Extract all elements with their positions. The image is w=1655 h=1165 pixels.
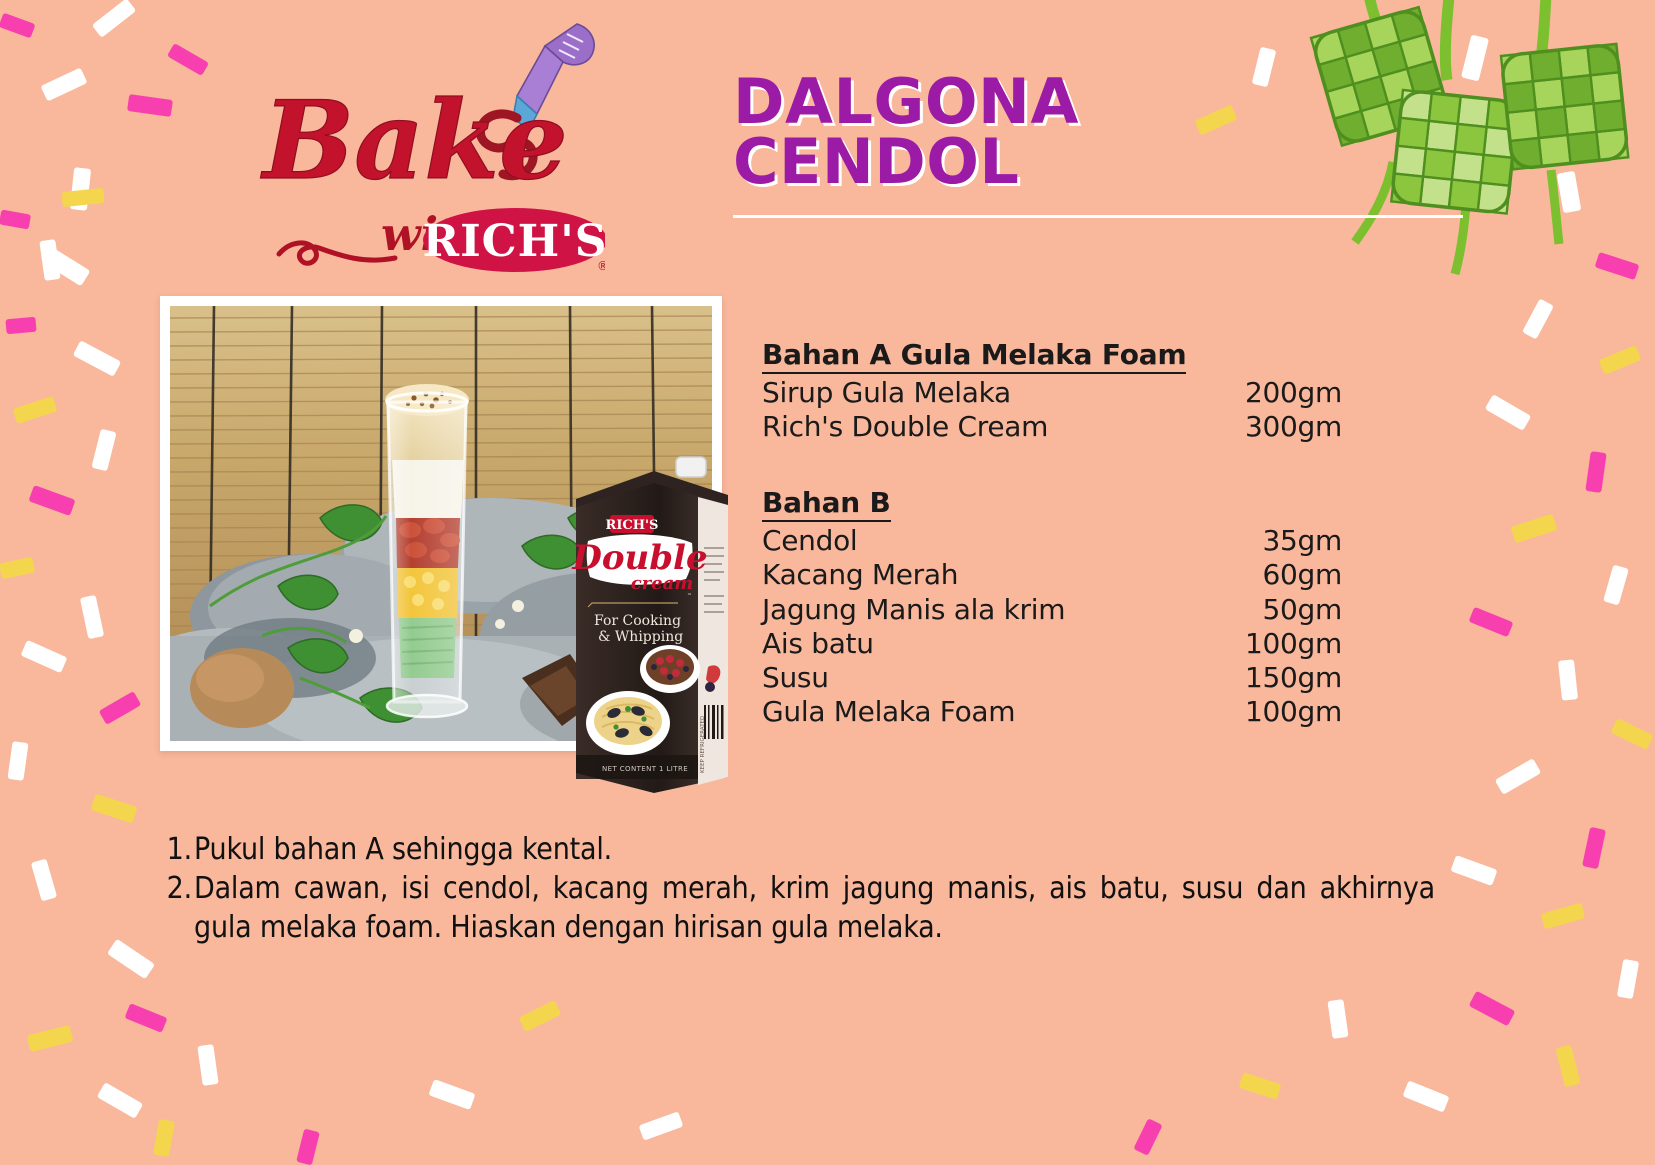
- ingredient-name: Rich's Double Cream: [762, 410, 1048, 444]
- svg-text:KEEP REFRIGERATED: KEEP REFRIGERATED: [700, 716, 706, 773]
- confetti-sprinkle: [1557, 171, 1582, 214]
- ingredient-group-gap: [762, 452, 1342, 486]
- confetti-sprinkle: [296, 1129, 320, 1165]
- ingredient-quantity: 300gm: [1245, 410, 1342, 444]
- ingredient-quantity: 150gm: [1245, 661, 1342, 695]
- confetti-sprinkle: [1485, 394, 1532, 431]
- confetti-sprinkle: [428, 1079, 475, 1110]
- confetti-sprinkle: [1603, 565, 1629, 606]
- confetti-sprinkle: [1522, 298, 1554, 339]
- recipe-card: Bake with RICH'S ® DALGONA CENDOL: [0, 0, 1655, 1165]
- ingredient-name: Gula Melaka Foam: [762, 695, 1015, 729]
- ingredient-name: Ais batu: [762, 627, 874, 661]
- confetti-sprinkle: [39, 239, 60, 281]
- ingredient-name: Jagung Manis ala krim: [762, 593, 1065, 627]
- svg-text:Bake: Bake: [260, 78, 568, 204]
- confetti-sprinkle: [0, 13, 36, 39]
- confetti-sprinkle: [80, 595, 104, 639]
- confetti-sprinkle: [167, 43, 209, 76]
- confetti-sprinkle: [97, 1082, 144, 1119]
- confetti-sprinkle: [92, 0, 137, 38]
- confetti-sprinkle: [124, 1003, 167, 1033]
- confetti-sprinkle: [1555, 1045, 1580, 1088]
- confetti-sprinkle: [1585, 451, 1606, 493]
- ingredient-row: Rich's Double Cream300gm: [762, 410, 1342, 444]
- confetti-sprinkle: [1617, 959, 1639, 999]
- confetti-sprinkle: [1402, 1080, 1449, 1112]
- confetti-sprinkle: [90, 794, 137, 824]
- ingredient-name: Susu: [762, 661, 829, 695]
- svg-text:cream: cream: [631, 573, 694, 594]
- confetti-sprinkle: [1327, 999, 1348, 1039]
- confetti-sprinkle: [99, 691, 142, 725]
- confetti-sprinkle: [70, 167, 91, 211]
- ingredient-row: Cendol35gm: [762, 524, 1342, 558]
- confetti-sprinkle: [1598, 345, 1641, 375]
- method-step-text: Dalam cawan, isi cendol, kacang merah, k…: [194, 869, 1435, 947]
- svg-text:& Whipping: & Whipping: [598, 629, 683, 645]
- confetti-sprinkle: [31, 859, 57, 902]
- confetti-sprinkle: [40, 67, 87, 101]
- confetti-sprinkle: [519, 1000, 562, 1032]
- method-step-number: 2.: [160, 869, 194, 908]
- method-section: 1.Pukul bahan A sehingga kental.2.Dalam …: [160, 830, 1435, 947]
- confetti-sprinkle: [1582, 827, 1606, 869]
- confetti-sprinkle: [0, 210, 31, 230]
- title-divider: [733, 215, 1463, 218]
- ingredient-name: Cendol: [762, 524, 857, 558]
- ingredient-quantity: 100gm: [1245, 695, 1342, 729]
- confetti-sprinkle: [1469, 991, 1516, 1027]
- ingredient-quantity: 35gm: [1263, 524, 1342, 558]
- ingredient-group-heading: Bahan B: [762, 486, 891, 522]
- confetti-sprinkle: [13, 396, 58, 424]
- confetti-sprinkle: [0, 557, 35, 580]
- confetti-sprinkle: [1541, 903, 1586, 930]
- svg-text:RICH'S: RICH'S: [606, 518, 659, 533]
- ingredient-group: Bahan A Gula Melaka FoamSirup Gula Melak…: [762, 338, 1342, 444]
- confetti-sprinkle: [1461, 34, 1489, 81]
- confetti-sprinkle: [20, 640, 67, 673]
- confetti-sprinkle: [1469, 607, 1514, 638]
- ingredient-group: Bahan BCendol35gmKacang Merah60gmJagung …: [762, 486, 1342, 729]
- ingredient-quantity: 60gm: [1263, 558, 1342, 592]
- svg-text:™: ™: [687, 593, 692, 599]
- ingredient-row: Susu150gm: [762, 661, 1342, 695]
- confetti-sprinkle: [61, 188, 104, 207]
- confetti-sprinkle: [28, 485, 75, 516]
- ingredient-row: Kacang Merah60gm: [762, 558, 1342, 592]
- svg-text:RICH'S: RICH'S: [423, 216, 606, 267]
- ingredient-quantity: 50gm: [1263, 593, 1342, 627]
- confetti-sprinkle: [1507, 98, 1552, 130]
- ingredient-row: Ais batu100gm: [762, 627, 1342, 661]
- confetti-sprinkle: [27, 1025, 74, 1052]
- confetti-sprinkle: [1611, 718, 1654, 750]
- ingredient-quantity: 200gm: [1245, 376, 1342, 410]
- confetti-sprinkle: [7, 741, 28, 781]
- method-step-number: 1.: [160, 830, 194, 869]
- method-step: 1.Pukul bahan A sehingga kental.: [160, 830, 1435, 869]
- ingredients-section: Bahan A Gula Melaka FoamSirup Gula Melak…: [762, 338, 1342, 737]
- confetti-sprinkle: [639, 1111, 684, 1140]
- ingredient-row: Sirup Gula Melaka200gm: [762, 376, 1342, 410]
- ingredient-name: Sirup Gula Melaka: [762, 376, 1011, 410]
- svg-text:®: ®: [597, 259, 605, 273]
- confetti-sprinkle: [1495, 758, 1542, 795]
- ingredient-group-heading: Bahan A Gula Melaka Foam: [762, 338, 1186, 374]
- svg-text:Double: Double: [571, 538, 707, 578]
- confetti-sprinkle: [197, 1044, 218, 1086]
- product-carton-richs-double-cream: RICH'S Double cream ™ For Cooking & Whip…: [558, 455, 748, 795]
- confetti-sprinkle: [91, 429, 116, 472]
- method-step-text: Pukul bahan A sehingga kental.: [194, 830, 1435, 869]
- title-block: DALGONA CENDOL: [733, 72, 1433, 218]
- confetti-sprinkle: [1510, 514, 1557, 544]
- confetti-sprinkle: [5, 317, 36, 335]
- confetti-sprinkle: [127, 94, 173, 117]
- confetti-sprinkle: [1133, 1118, 1162, 1156]
- page-title: DALGONA CENDOL: [733, 72, 1433, 191]
- confetti-sprinkle: [73, 340, 122, 377]
- confetti-sprinkle: [1595, 252, 1640, 280]
- ingredient-row: Gula Melaka Foam100gm: [762, 695, 1342, 729]
- svg-text:For Cooking: For Cooking: [594, 613, 681, 629]
- ingredient-quantity: 100gm: [1245, 627, 1342, 661]
- ingredient-name: Kacang Merah: [762, 558, 958, 592]
- bake-with-richs-logo: Bake with RICH'S ®: [245, 18, 605, 280]
- confetti-sprinkle: [1558, 659, 1578, 700]
- confetti-sprinkle: [44, 248, 91, 287]
- ingredient-row: Jagung Manis ala krim50gm: [762, 593, 1342, 627]
- confetti-sprinkle: [1450, 855, 1497, 886]
- confetti-sprinkle: [107, 939, 155, 980]
- svg-text:NET CONTENT 1 LITRE: NET CONTENT 1 LITRE: [602, 765, 688, 773]
- confetti-sprinkle: [153, 1119, 175, 1157]
- method-step: 2.Dalam cawan, isi cendol, kacang merah,…: [160, 869, 1435, 947]
- confetti-sprinkle: [1239, 1072, 1282, 1100]
